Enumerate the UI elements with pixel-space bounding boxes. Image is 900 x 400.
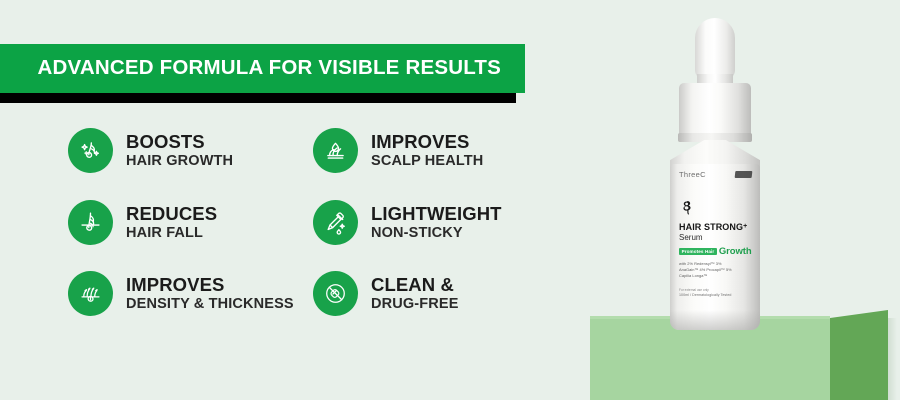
claim-word: Growth <box>719 246 752 257</box>
headline-banner: ADVANCED FORMULA FOR VISIBLE RESULTS <box>0 44 525 108</box>
feature-item-hair-fall: REDUCES HAIR FALL <box>68 200 217 245</box>
brand-name: ThreeC <box>679 170 706 179</box>
feature-subtitle: HAIR GROWTH <box>126 154 233 170</box>
product-name-suffix: + <box>743 223 747 230</box>
claim-tag: Promotes Hair <box>679 248 717 256</box>
pedestal-front-face <box>590 318 830 400</box>
dense-hair-icon <box>68 271 113 316</box>
pedestal-side-face <box>830 310 888 400</box>
dropper-sparkle-icon <box>313 200 358 245</box>
feature-text: CLEAN & DRUG-FREE <box>371 275 459 313</box>
product-name: HAIR STRONG+ <box>679 222 747 232</box>
headline-emphasis: VISIBLE RESULTS <box>318 56 501 79</box>
feature-text: REDUCES HAIR FALL <box>126 204 217 242</box>
scalp-droplet-icon <box>313 128 358 173</box>
headline-banner-shadow <box>0 93 516 103</box>
falling-hair-icon <box>68 200 113 245</box>
feature-subtitle: HAIR FALL <box>126 226 217 242</box>
feature-title: BOOSTS <box>126 132 233 152</box>
no-drugs-prohibited-icon <box>313 271 358 316</box>
feature-item-scalp-health: IMPROVES SCALP HEALTH <box>313 128 483 173</box>
hair-follicle-sparkle-icon <box>68 128 113 173</box>
feature-item-density: IMPROVES DENSITY & THICKNESS <box>68 271 294 316</box>
feature-subtitle: DENSITY & THICKNESS <box>126 297 294 313</box>
feature-title: IMPROVES <box>126 275 294 295</box>
product-name-text: HAIR STRONG <box>679 222 743 232</box>
feature-text: IMPROVES DENSITY & THICKNESS <box>126 275 294 313</box>
feature-text: LIGHTWEIGHT NON-STICKY <box>371 204 502 242</box>
feature-subtitle: SCALP HEALTH <box>371 154 483 170</box>
dropper-bulb <box>695 18 735 80</box>
promo-banner-canvas: ADVANCED FORMULA FOR VISIBLE RESULTS B <box>0 0 900 400</box>
feature-title: CLEAN & <box>371 275 459 295</box>
feature-text: BOOSTS HAIR GROWTH <box>126 132 233 170</box>
feature-text: IMPROVES SCALP HEALTH <box>371 132 483 170</box>
feature-item-boosts: BOOSTS HAIR GROWTH <box>68 128 233 173</box>
headline-banner-bar: ADVANCED FORMULA FOR VISIBLE RESULTS <box>0 44 525 93</box>
feature-title: LIGHTWEIGHT <box>371 204 502 224</box>
headline-text: ADVANCED FORMULA FOR VISIBLE RESULTS <box>37 58 501 79</box>
feature-title: REDUCES <box>126 204 217 224</box>
feature-subtitle: NON-STICKY <box>371 226 502 242</box>
fineprint-caption: For external use only <box>679 288 709 292</box>
feature-title: IMPROVES <box>371 132 483 152</box>
brand-badge-icon <box>735 171 753 178</box>
ingredient-list: with 2% Redensyl™ 3% AnaGain™ 4% Procapi… <box>679 261 741 279</box>
feature-subtitle: DRUG-FREE <box>371 297 459 313</box>
product-claim: Promotes Hair Growth <box>679 246 752 257</box>
headline-lead: ADVANCED FORMULA FOR <box>37 56 318 79</box>
feature-item-lightweight: LIGHTWEIGHT NON-STICKY <box>313 200 502 245</box>
brand-logo-icon <box>679 200 695 216</box>
feature-list: BOOSTS HAIR GROWTH IMPROVES SCALP HEALTH <box>68 128 568 328</box>
product-type: Serum <box>679 233 703 242</box>
fineprint-text: 100ml / Dermatologically Tested <box>679 293 739 297</box>
feature-item-clean-drug-free: CLEAN & DRUG-FREE <box>313 271 459 316</box>
serum-bottle: ThreeC HAIR STRONG+ Serum Promotes Hair … <box>658 18 776 330</box>
product-scene: ThreeC HAIR STRONG+ Serum Promotes Hair … <box>580 0 900 400</box>
bottle-label: ThreeC HAIR STRONG+ Serum Promotes Hair … <box>678 170 752 320</box>
